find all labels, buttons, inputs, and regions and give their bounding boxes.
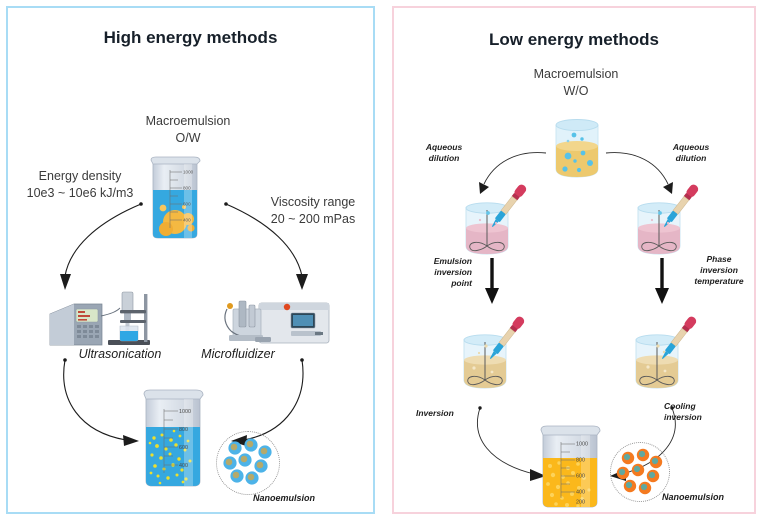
svg-text:600: 600	[576, 474, 585, 480]
svg-text:1000: 1000	[183, 170, 194, 175]
beaker-nanoemulsion-wo: 1000 800 600 400 200	[534, 420, 606, 512]
nanoemulsion-cluster-wo	[610, 442, 670, 502]
diagram-canvas: High energy methods Macroemulsion O/W En…	[0, 0, 762, 522]
equipment-microfluidizer	[215, 291, 335, 351]
nanoemulsion-cluster-ow	[216, 431, 280, 495]
svg-text:1000: 1000	[576, 442, 588, 448]
panel-low-energy: Low energy methods Macroemulsion W/O Aqu…	[392, 6, 756, 514]
svg-text:800: 800	[183, 186, 191, 191]
beaker-pink-left	[454, 180, 550, 262]
svg-text:800: 800	[576, 458, 585, 464]
beaker-pale-oil-left	[452, 310, 548, 396]
beaker-pink-right	[626, 180, 722, 262]
svg-text:1000: 1000	[179, 409, 191, 415]
beaker-macroemulsion-wo	[546, 113, 608, 185]
panel-high-energy: High energy methods Macroemulsion O/W En…	[6, 6, 375, 514]
beaker-nanoemulsion-ow: 1000 800 600 400	[138, 383, 208, 493]
equipment-ultrasonicator	[44, 290, 162, 352]
beaker-macroemulsion-ow: 1000 800 600 400	[144, 150, 206, 242]
svg-text:600: 600	[183, 202, 191, 207]
svg-text:600: 600	[179, 445, 188, 451]
beaker-pale-oil-right	[624, 310, 720, 396]
svg-text:200: 200	[576, 500, 585, 506]
svg-text:400: 400	[183, 218, 191, 223]
svg-text:800: 800	[179, 427, 188, 433]
svg-text:400: 400	[576, 490, 585, 496]
svg-text:400: 400	[179, 463, 188, 469]
